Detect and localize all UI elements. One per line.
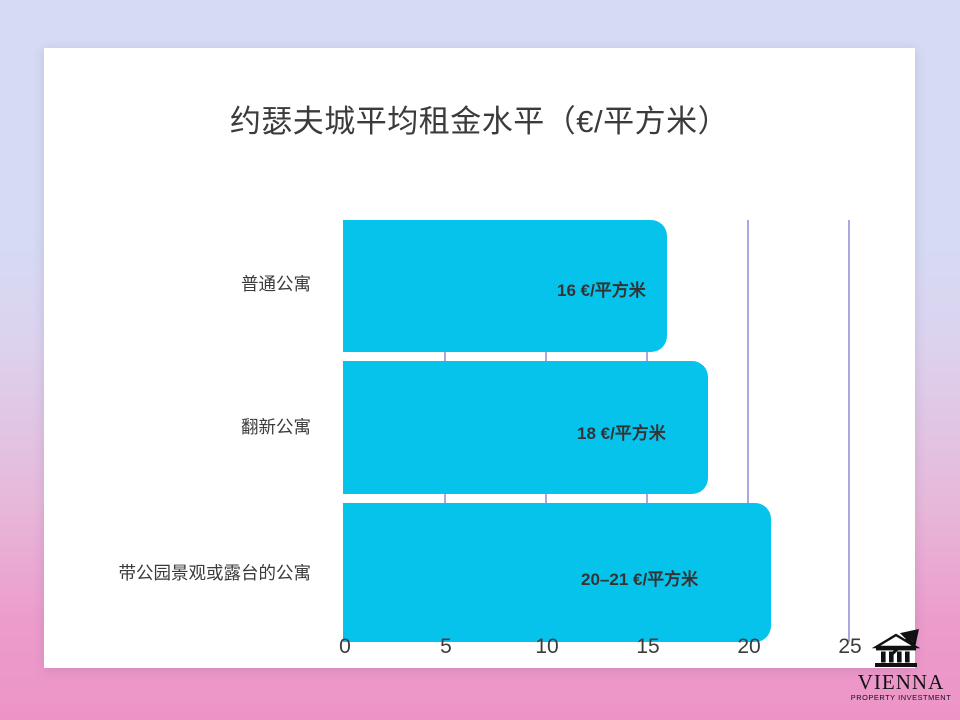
x-tick-20: 20 bbox=[737, 636, 760, 657]
logo-tagline: PROPERTY INVESTMENT bbox=[845, 694, 957, 701]
category-label-2: 翻新公寓 bbox=[241, 419, 311, 437]
bar-value-label-3: 20–21 €/平方米 bbox=[581, 571, 698, 588]
x-tick-0: 0 bbox=[339, 636, 351, 657]
bar-value-label-2: 18 €/平方米 bbox=[577, 425, 666, 442]
chart-card: 约瑟夫城平均租金水平（€/平方米） 普通公寓 16 €/平方米 翻新公寓 18 … bbox=[44, 48, 915, 668]
x-tick-10: 10 bbox=[535, 636, 558, 657]
plot-area: 普通公寓 16 €/平方米 翻新公寓 18 €/平方米 带公园景观或露台的公寓 … bbox=[44, 158, 915, 638]
slide-canvas: 约瑟夫城平均租金水平（€/平方米） 普通公寓 16 €/平方米 翻新公寓 18 … bbox=[0, 0, 960, 720]
category-label-1: 普通公寓 bbox=[241, 276, 311, 294]
vienna-property-investment-logo: VIENNA PROPERTY INVESTMENT bbox=[845, 626, 957, 710]
x-tick-5: 5 bbox=[440, 636, 452, 657]
category-label-3: 带公园景观或露台的公寓 bbox=[119, 565, 312, 583]
bar-row-2: 翻新公寓 18 €/平方米 bbox=[44, 361, 915, 494]
chart-title: 约瑟夫城平均租金水平（€/平方米） bbox=[44, 96, 915, 141]
classical-building-arrow-icon bbox=[870, 626, 932, 670]
bar-3[interactable] bbox=[343, 503, 771, 642]
logo-wordmark: VIENNA bbox=[845, 671, 957, 693]
x-axis: 0 5 10 15 20 25 bbox=[44, 636, 915, 676]
bar-row-3: 带公园景观或露台的公寓 20–21 €/平方米 bbox=[44, 503, 915, 642]
bar-value-label-1: 16 €/平方米 bbox=[557, 282, 646, 299]
bar-row-1: 普通公寓 16 €/平方米 bbox=[44, 220, 915, 352]
x-tick-15: 15 bbox=[636, 636, 659, 657]
